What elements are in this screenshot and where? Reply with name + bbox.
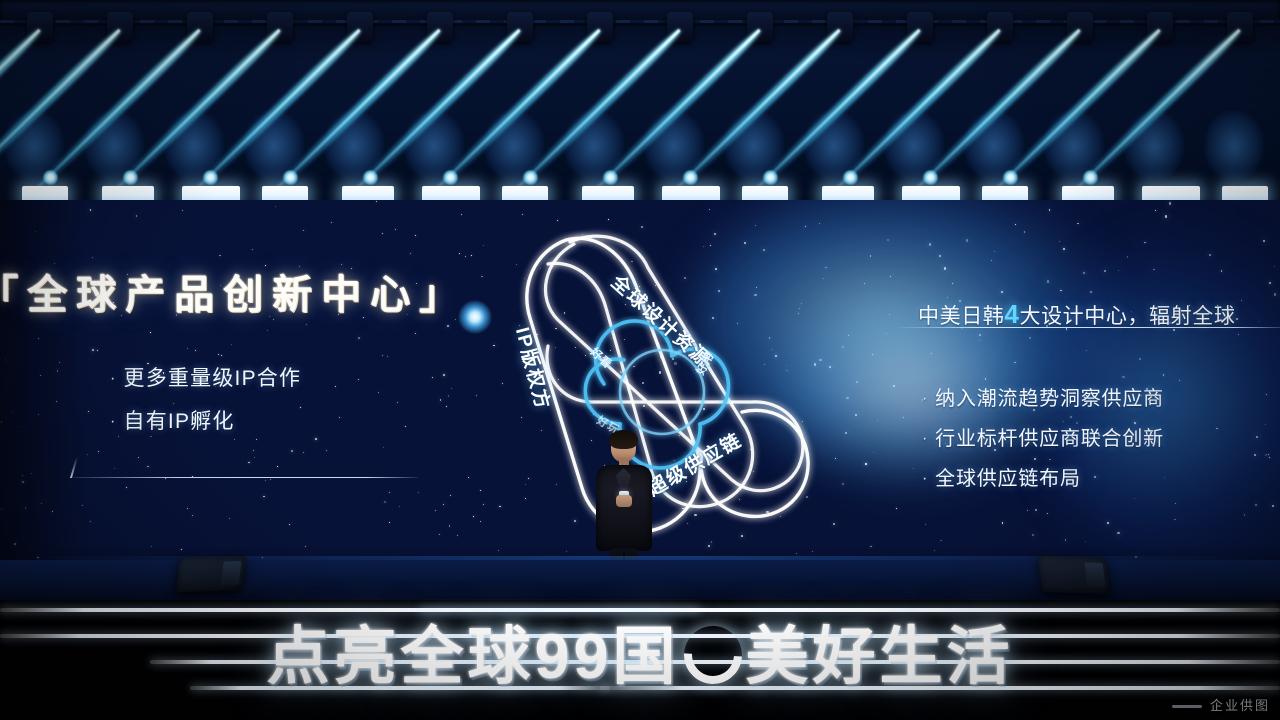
star [218, 354, 219, 355]
star [465, 256, 466, 257]
star [136, 215, 137, 216]
star [187, 508, 188, 509]
star [395, 229, 396, 230]
stage-monitor-left [176, 556, 247, 592]
list-item: ·全球供应链布局 [922, 462, 1164, 491]
star [397, 402, 398, 403]
star [150, 332, 151, 333]
star [1, 421, 2, 422]
list-item-label: 全球供应链布局 [935, 468, 1081, 490]
watermark-dash-icon [1172, 705, 1202, 708]
list-item-label: 行业标杆供应商联合创新 [935, 428, 1164, 450]
star [432, 377, 433, 378]
list-item-label: 更多重量级IP合作 [124, 367, 302, 390]
star [90, 521, 91, 522]
star [480, 490, 481, 491]
bullet-marker: · [110, 413, 117, 431]
star [870, 546, 871, 547]
star [192, 515, 193, 516]
star [459, 253, 460, 254]
star [126, 487, 127, 488]
beam-hotspot [1083, 170, 1098, 185]
lighting-rig [0, 0, 1280, 212]
star [40, 375, 41, 376]
star [195, 350, 196, 351]
star [12, 412, 13, 413]
right-divider-rule [898, 327, 1280, 328]
star [446, 406, 447, 407]
star [92, 349, 94, 351]
list-item: ·自有IP孵化 [110, 405, 301, 435]
right-heading-prefix: 中美日韩 [918, 305, 1004, 328]
star [447, 325, 449, 327]
beam-hotspot [763, 170, 778, 185]
star [410, 253, 411, 254]
star [1085, 541, 1086, 542]
beam-hotspot [683, 170, 698, 185]
star [1002, 522, 1004, 524]
star [415, 235, 416, 236]
stage-banner: 点亮全球99国美好生活 [0, 606, 1280, 694]
star [1, 508, 3, 510]
beam-hotspot [363, 170, 378, 185]
star [90, 209, 91, 210]
star [925, 524, 926, 525]
stage-monitor-right [1038, 556, 1111, 594]
star [389, 522, 390, 523]
right-heading-suffix: 大设计中心，辐射全球 [1019, 305, 1235, 328]
beam-hotspot [523, 170, 538, 185]
star [457, 535, 458, 536]
star [14, 543, 16, 545]
left-bullet-list: ·更多重量级IP合作 ·自有IP孵化 [110, 362, 301, 448]
stage-photo: 「全球产品创新中心」 ·更多重量级IP合作 ·自有IP孵化 中美日韩4大设计中心… [0, 0, 1280, 720]
star [25, 507, 26, 508]
star [1077, 223, 1079, 225]
star [418, 492, 419, 493]
star [443, 504, 444, 505]
beam-hotspot [443, 170, 458, 185]
star [473, 516, 474, 517]
star [306, 324, 307, 325]
star [493, 345, 495, 347]
star [253, 450, 255, 452]
star [1065, 539, 1067, 541]
star [1032, 534, 1034, 536]
design-center-count: 4 [1004, 299, 1019, 329]
star [443, 374, 445, 376]
star [252, 249, 253, 250]
star [896, 508, 897, 509]
list-item-label: 自有IP孵化 [124, 410, 235, 433]
star [842, 483, 844, 485]
star [263, 496, 264, 497]
star [331, 222, 332, 223]
star [59, 362, 60, 363]
bullet-marker: · [922, 390, 928, 408]
star [387, 356, 388, 357]
right-heading: 中美日韩4大设计中心，辐射全球 [918, 299, 1235, 330]
star [1169, 202, 1171, 204]
star [450, 495, 451, 496]
slide-heading: 「全球产品创新中心」 [0, 262, 468, 320]
star [315, 438, 317, 440]
star [382, 233, 383, 234]
star [1263, 240, 1265, 242]
banner-slogan-prefix: 点亮全球99国 [266, 622, 679, 692]
star [449, 525, 450, 526]
star [221, 355, 222, 356]
beam-hotspot [843, 170, 858, 185]
star [303, 230, 304, 231]
star [481, 276, 483, 278]
banner-slogan: 点亮全球99国美好生活 [0, 606, 1280, 697]
list-item: ·行业标杆供应商联合创新 [922, 422, 1164, 451]
star [57, 370, 58, 371]
speaker-hands [616, 495, 632, 507]
star [384, 501, 386, 503]
star [181, 549, 182, 550]
beam-hotspot [1003, 170, 1018, 185]
star [5, 359, 6, 360]
star [471, 255, 472, 256]
star [378, 392, 379, 393]
beam-hotspot [43, 170, 58, 185]
star [709, 209, 711, 211]
list-item: ·纳入潮流趋势洞察供应商 [922, 382, 1164, 411]
star [22, 475, 23, 476]
star [82, 505, 83, 506]
star [358, 337, 360, 339]
star [1027, 510, 1028, 511]
star [97, 350, 98, 351]
star [219, 255, 220, 256]
beam-hotspot [123, 170, 138, 185]
star [439, 534, 440, 535]
star [22, 481, 24, 483]
star [934, 550, 935, 551]
beam-hotspot [923, 170, 938, 185]
star [267, 330, 268, 331]
beam-hotspot [603, 170, 618, 185]
star [1165, 215, 1167, 217]
banner-slogan-suffix: 美好生活 [746, 622, 1014, 692]
star [339, 417, 340, 418]
star [376, 201, 377, 202]
star [451, 388, 452, 389]
star [52, 511, 53, 512]
star [440, 399, 442, 401]
star [483, 245, 484, 246]
star [92, 257, 93, 258]
triquetra-diagram: 全球设计资源 IP版权方 超级供应链 好看 好用 好玩 [496, 216, 826, 556]
light-halo [1204, 110, 1264, 182]
star [382, 355, 383, 356]
list-item-label: 纳入潮流趋势洞察供应商 [935, 388, 1164, 410]
star [1155, 210, 1156, 211]
right-bullet-list: ·纳入潮流趋势洞察供应商 ·行业标杆供应商联合创新 ·全球供应链布局 [922, 382, 1164, 502]
star [229, 518, 231, 520]
star [358, 379, 359, 380]
star [399, 506, 400, 507]
star [522, 214, 523, 215]
star [448, 395, 449, 396]
speaker-hair [609, 430, 638, 449]
star [265, 480, 266, 481]
star [383, 447, 384, 448]
star [415, 333, 416, 334]
star [1047, 513, 1048, 514]
star [476, 395, 477, 396]
watermark-label: 企业供图 [1210, 695, 1270, 714]
monitor-grille [221, 561, 242, 586]
star [88, 411, 89, 412]
star [41, 503, 42, 504]
star [326, 450, 327, 451]
left-underline-bracket [73, 452, 418, 478]
star [1035, 509, 1038, 512]
star [833, 523, 835, 525]
star [275, 206, 276, 207]
star [483, 504, 484, 505]
bullet-marker: · [922, 430, 928, 448]
star [31, 473, 32, 474]
smile-arc-icon [672, 614, 754, 696]
star [151, 546, 152, 547]
star [940, 540, 941, 541]
star [468, 477, 469, 478]
star [38, 414, 39, 415]
beam-hotspot [203, 170, 218, 185]
monitor-grille [1084, 562, 1105, 587]
star [389, 492, 390, 493]
beam-hotspot [283, 170, 298, 185]
bullet-marker: · [922, 470, 928, 488]
light-halo [1124, 110, 1184, 182]
bullet-marker: · [110, 370, 117, 388]
list-item: ·更多重量级IP合作 [110, 362, 301, 392]
